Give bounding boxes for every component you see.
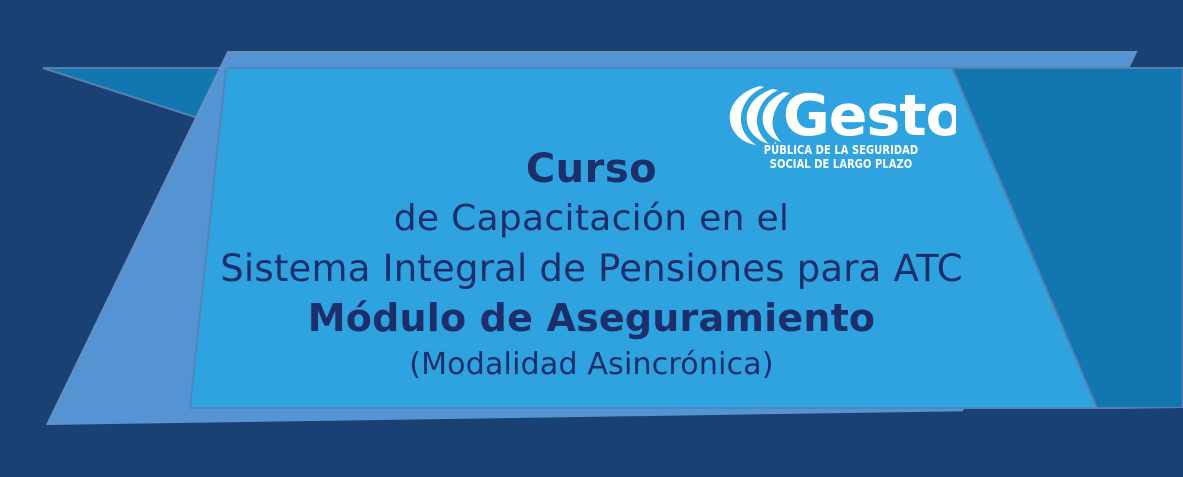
title-line-modalidad: (Modalidad Asincrónica) — [0, 343, 1183, 387]
gestora-swoosh-icon — [730, 86, 790, 145]
svg-text:Gestora: Gestora — [783, 83, 956, 149]
banner-content: Gestora PÚBLICA DE LA SEGURIDAD SOCIAL D… — [0, 0, 1183, 477]
title-line-capacitacion: de Capacitación en el — [0, 194, 1183, 244]
course-banner: Gestora PÚBLICA DE LA SEGURIDAD SOCIAL D… — [0, 0, 1183, 477]
gestora-lettering: Gestora — [783, 83, 956, 149]
course-title-block: Curso de Capacitación en el Sistema Inte… — [0, 144, 1183, 387]
title-line-sistema: Sistema Integral de Pensiones para ATC — [0, 244, 1183, 293]
gestora-wordmark: Gestora — [726, 83, 956, 149]
title-line-curso: Curso — [0, 144, 1183, 194]
title-line-modulo: Módulo de Aseguramiento — [0, 293, 1183, 343]
